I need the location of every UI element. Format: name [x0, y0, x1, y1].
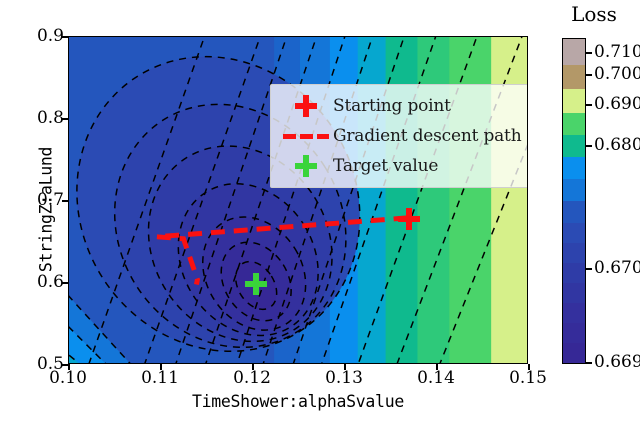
starting-point-marker	[397, 207, 421, 231]
legend-entry-starting-point: Starting point	[279, 91, 528, 121]
colorbar-band	[563, 303, 585, 323]
xtick-label: 0.14	[417, 368, 455, 388]
legend-entry-gradient-descent-path: Gradient descent path	[279, 121, 528, 151]
colorbar-tick-label: 0.670	[594, 258, 640, 278]
plot-area: Starting point Gradient descent path Tar…	[68, 36, 528, 364]
colorbar-band	[563, 243, 585, 263]
legend-label-gradient-descent-path: Gradient descent path	[333, 126, 521, 146]
colorbar-tick-label: 0.669	[594, 352, 640, 372]
x-axis-label: TimeShower:alphaSvalue	[68, 392, 528, 411]
legend-label-starting-point: Starting point	[333, 96, 451, 116]
colorbar-tick	[586, 74, 592, 76]
colorbar-band	[563, 283, 585, 303]
colorbar-band	[563, 179, 585, 201]
legend-label-target-value: Target value	[333, 156, 438, 176]
colorbar-band	[563, 89, 585, 113]
colorbar-tick	[586, 52, 592, 54]
xtick-label: 0.13	[325, 368, 363, 388]
colorbar-tick-label: 0.690	[594, 94, 640, 114]
target-value-marker	[244, 272, 268, 296]
colorbar-tick-label: 0.700	[594, 64, 640, 84]
legend-key-dashed-line	[279, 134, 333, 139]
colorbar-band	[563, 323, 585, 343]
colorbar-band	[563, 157, 585, 179]
colorbar-tick	[586, 145, 592, 147]
ytick-label: 0.9	[37, 26, 64, 46]
colorbar-tick-label: 0.710	[594, 42, 640, 62]
plus-icon	[294, 154, 318, 178]
colorbar-tick-label: 0.680	[594, 135, 640, 155]
contour-plot-figure: Starting point Gradient descent path Tar…	[0, 0, 640, 424]
colorbar-tick	[586, 362, 592, 364]
xtick-label: 0.15	[509, 368, 547, 388]
colorbar-band	[563, 135, 585, 157]
colorbar-band	[563, 263, 585, 283]
legend-key-plus-red	[279, 94, 333, 118]
legend: Starting point Gradient descent path Tar…	[270, 84, 528, 188]
xtick-label: 0.11	[141, 368, 179, 388]
colorbar-title: Loss	[548, 2, 640, 26]
xtick-label: 0.12	[233, 368, 271, 388]
plus-icon	[294, 94, 318, 118]
colorbar-tick	[586, 104, 592, 106]
legend-key-plus-green	[279, 154, 333, 178]
colorbar-band	[563, 113, 585, 135]
colorbar-band	[563, 201, 585, 223]
y-axis-label: StringZ:aLund	[37, 46, 56, 374]
dashed-line-icon	[283, 134, 329, 139]
colorbar-band	[563, 39, 585, 65]
colorbar-band	[563, 343, 585, 363]
legend-entry-target-value: Target value	[279, 151, 528, 181]
colorbar-band	[563, 65, 585, 89]
colorbar-tick	[586, 268, 592, 270]
colorbar	[562, 38, 586, 364]
colorbar-band	[563, 223, 585, 243]
